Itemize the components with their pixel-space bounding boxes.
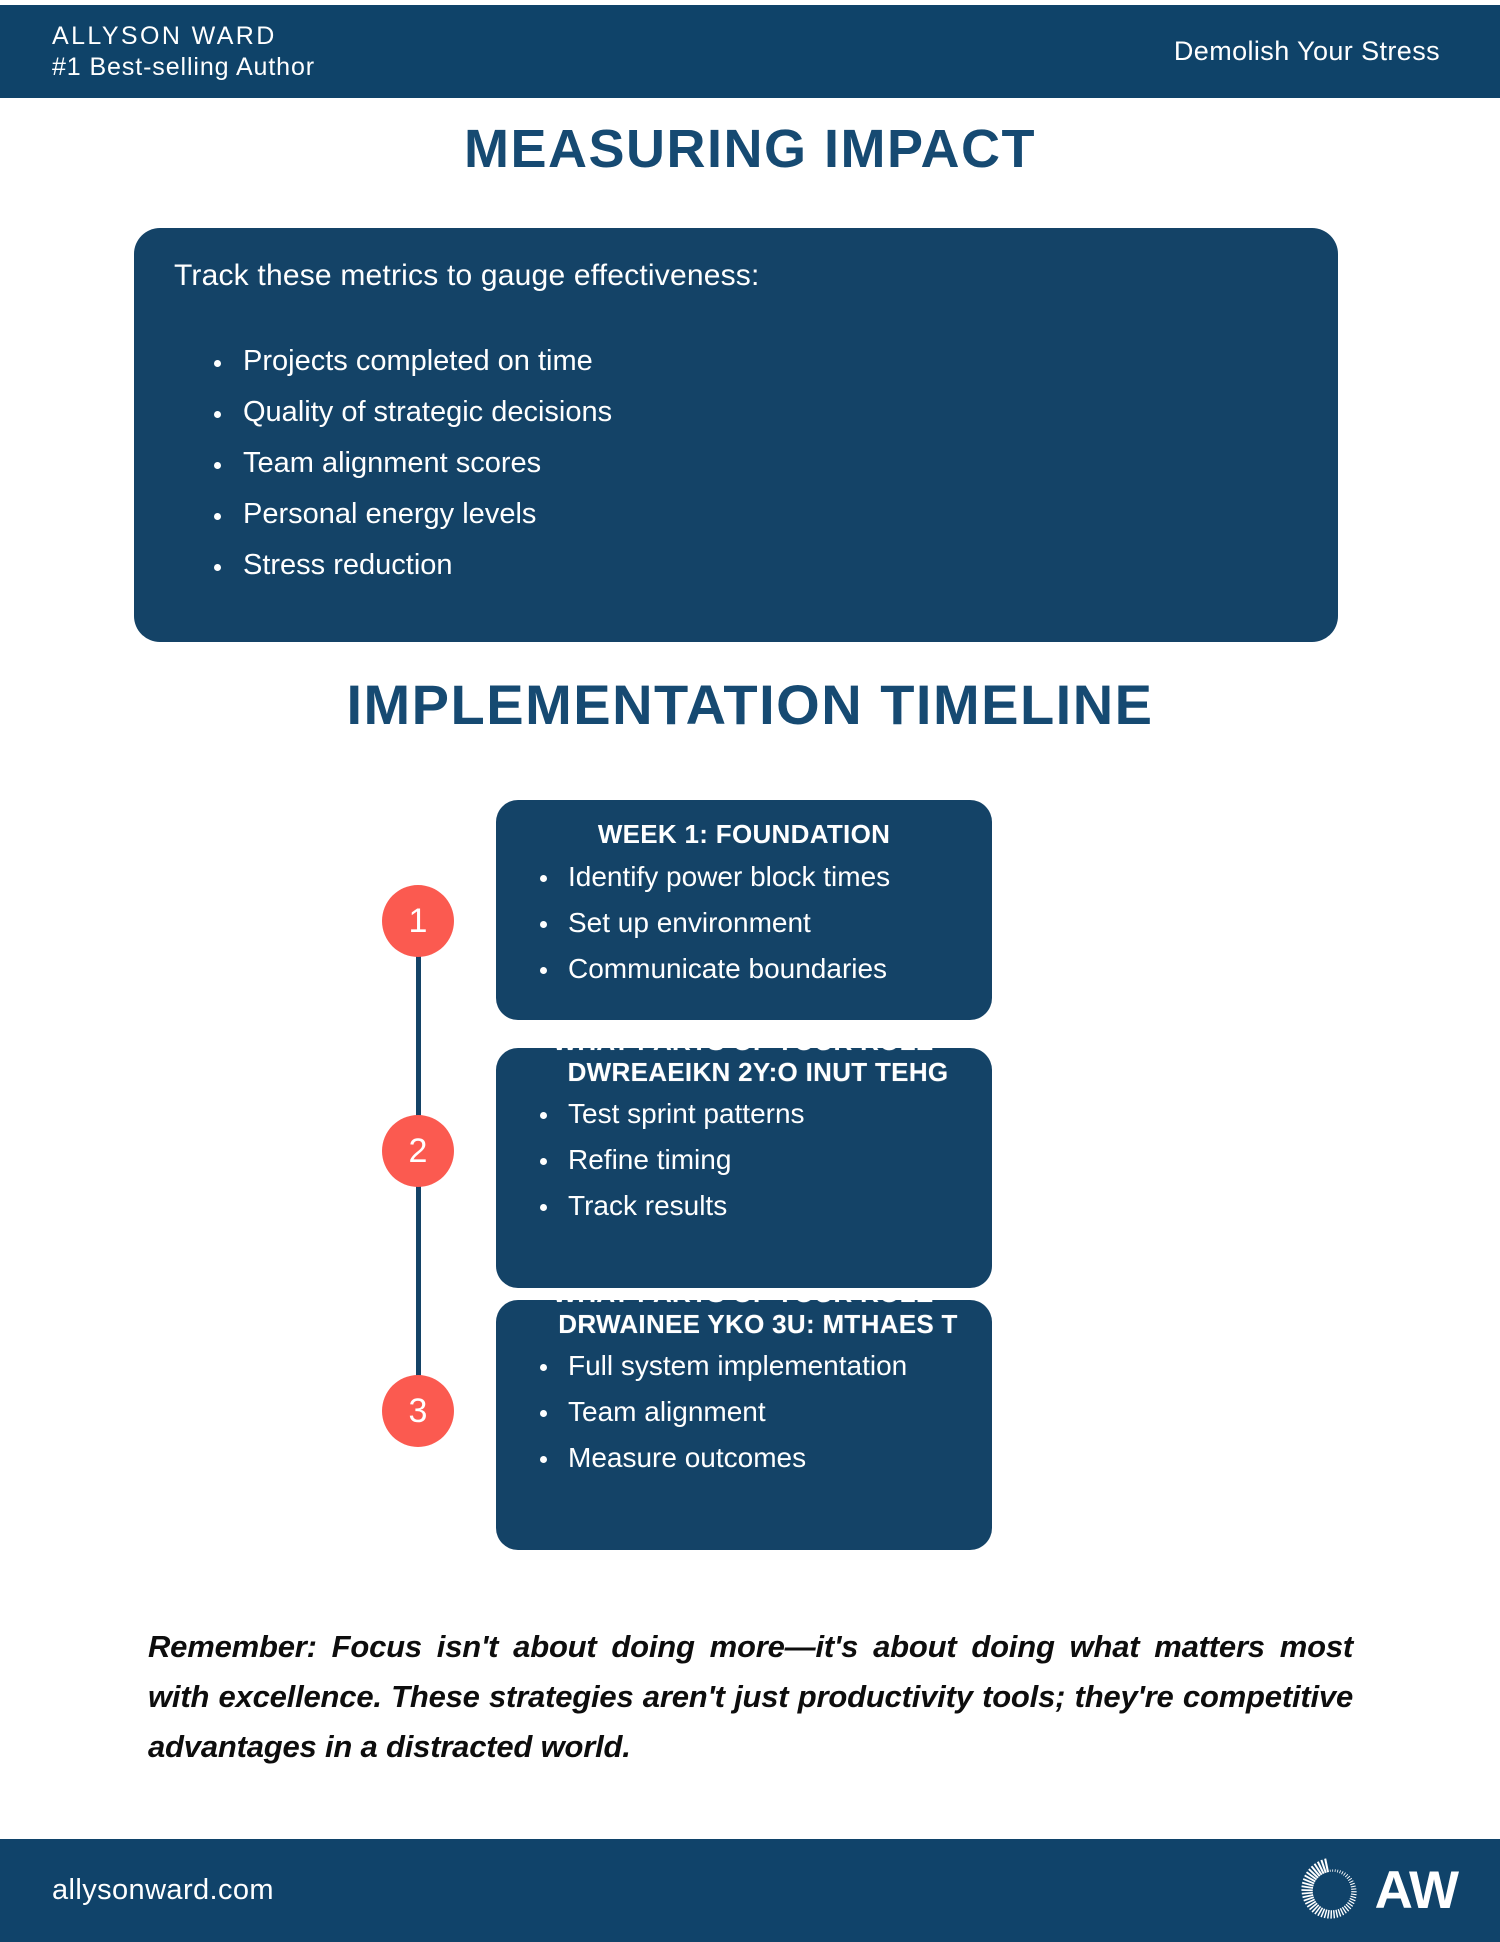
list-item: Refine timing [530, 1146, 992, 1174]
timeline-node-3: 3 [382, 1375, 454, 1447]
timeline-card-heading-overflow: WHAT PARTS OF YOUR ROLE DWREAEIKN 2Y:O I… [496, 1048, 992, 1087]
radial-burst-logo-icon [1295, 1854, 1369, 1928]
list-item: Team alignment [530, 1398, 992, 1426]
list-item: Test sprint patterns [530, 1100, 992, 1128]
timeline-card-3: WHAT PARTS OF YOUR ROLE DRWAINEE YKO 3U:… [496, 1300, 992, 1550]
list-item: Set up environment [530, 909, 992, 937]
timeline-node-number: 2 [409, 1132, 428, 1171]
timeline-node-1: 1 [382, 885, 454, 957]
list-item: Identify power block times [530, 863, 992, 891]
logo-text: AW [1375, 1864, 1458, 1917]
timeline-card-2: WHAT PARTS OF YOUR ROLE DWREAEIKN 2Y:O I… [496, 1048, 992, 1288]
brand-block: ALLYSON WARD #1 Best-selling Author [52, 22, 315, 82]
brand-subtitle: #1 Best-selling Author [52, 53, 315, 82]
timeline-card-heading-line1: WHAT PARTS OF YOUR ROLE [496, 1048, 992, 1057]
timeline-card-heading-overflow: WHAT PARTS OF YOUR ROLE DRWAINEE YKO 3U:… [496, 1300, 992, 1339]
metrics-list: Projects completed on time Quality of st… [174, 347, 1298, 580]
timeline-node-2: 2 [382, 1115, 454, 1187]
footer-logo: AW [1295, 1854, 1458, 1928]
timeline-card-1: WEEK 1: FOUNDATION Identify power block … [496, 800, 992, 1020]
remember-paragraph: Remember: Focus isn't about doing more—i… [148, 1622, 1353, 1773]
timeline-card-list: Identify power block times Set up enviro… [496, 863, 992, 983]
page-footer: allysonward.com AW [0, 1839, 1500, 1942]
footer-website-url[interactable]: allysonward.com [52, 1874, 274, 1907]
list-item: Full system implementation [530, 1352, 992, 1380]
metrics-card: Track these metrics to gauge effectivene… [134, 228, 1338, 642]
list-item: Team alignment scores [206, 449, 1298, 478]
list-item: Track results [530, 1192, 992, 1220]
timeline-card-heading: WEEK 1: FOUNDATION [496, 800, 992, 849]
header-right-title: Demolish Your Stress [1174, 36, 1460, 67]
list-item: Communicate boundaries [530, 955, 992, 983]
timeline-card-heading-line1: WHAT PARTS OF YOUR ROLE [496, 1300, 992, 1309]
list-item: Stress reduction [206, 551, 1298, 580]
list-item: Projects completed on time [206, 347, 1298, 376]
page-title-implementation-timeline: IMPLEMENTATION TIMELINE [0, 672, 1500, 737]
timeline-card-heading-line2: DWREAEIKN 2Y:O INUT TEHG [524, 1057, 992, 1088]
timeline-card-heading-line2: DRWAINEE YKO 3U: MTHAES T [524, 1309, 992, 1340]
metrics-intro-text: Track these metrics to gauge effectivene… [174, 256, 1298, 295]
list-item: Measure outcomes [530, 1444, 992, 1472]
timeline-node-number: 3 [409, 1392, 428, 1431]
page-title-measuring-impact: MEASURING IMPACT [0, 118, 1500, 180]
timeline-card-list: Test sprint patterns Refine timing Track… [496, 1100, 992, 1220]
timeline: 1 WEEK 1: FOUNDATION Identify power bloc… [0, 790, 1500, 1545]
page-header: ALLYSON WARD #1 Best-selling Author Demo… [0, 5, 1500, 98]
list-item: Personal energy levels [206, 500, 1298, 529]
timeline-node-number: 1 [409, 902, 428, 941]
brand-name: ALLYSON WARD [52, 22, 315, 51]
list-item: Quality of strategic decisions [206, 398, 1298, 427]
timeline-card-list: Full system implementation Team alignmen… [496, 1352, 992, 1472]
